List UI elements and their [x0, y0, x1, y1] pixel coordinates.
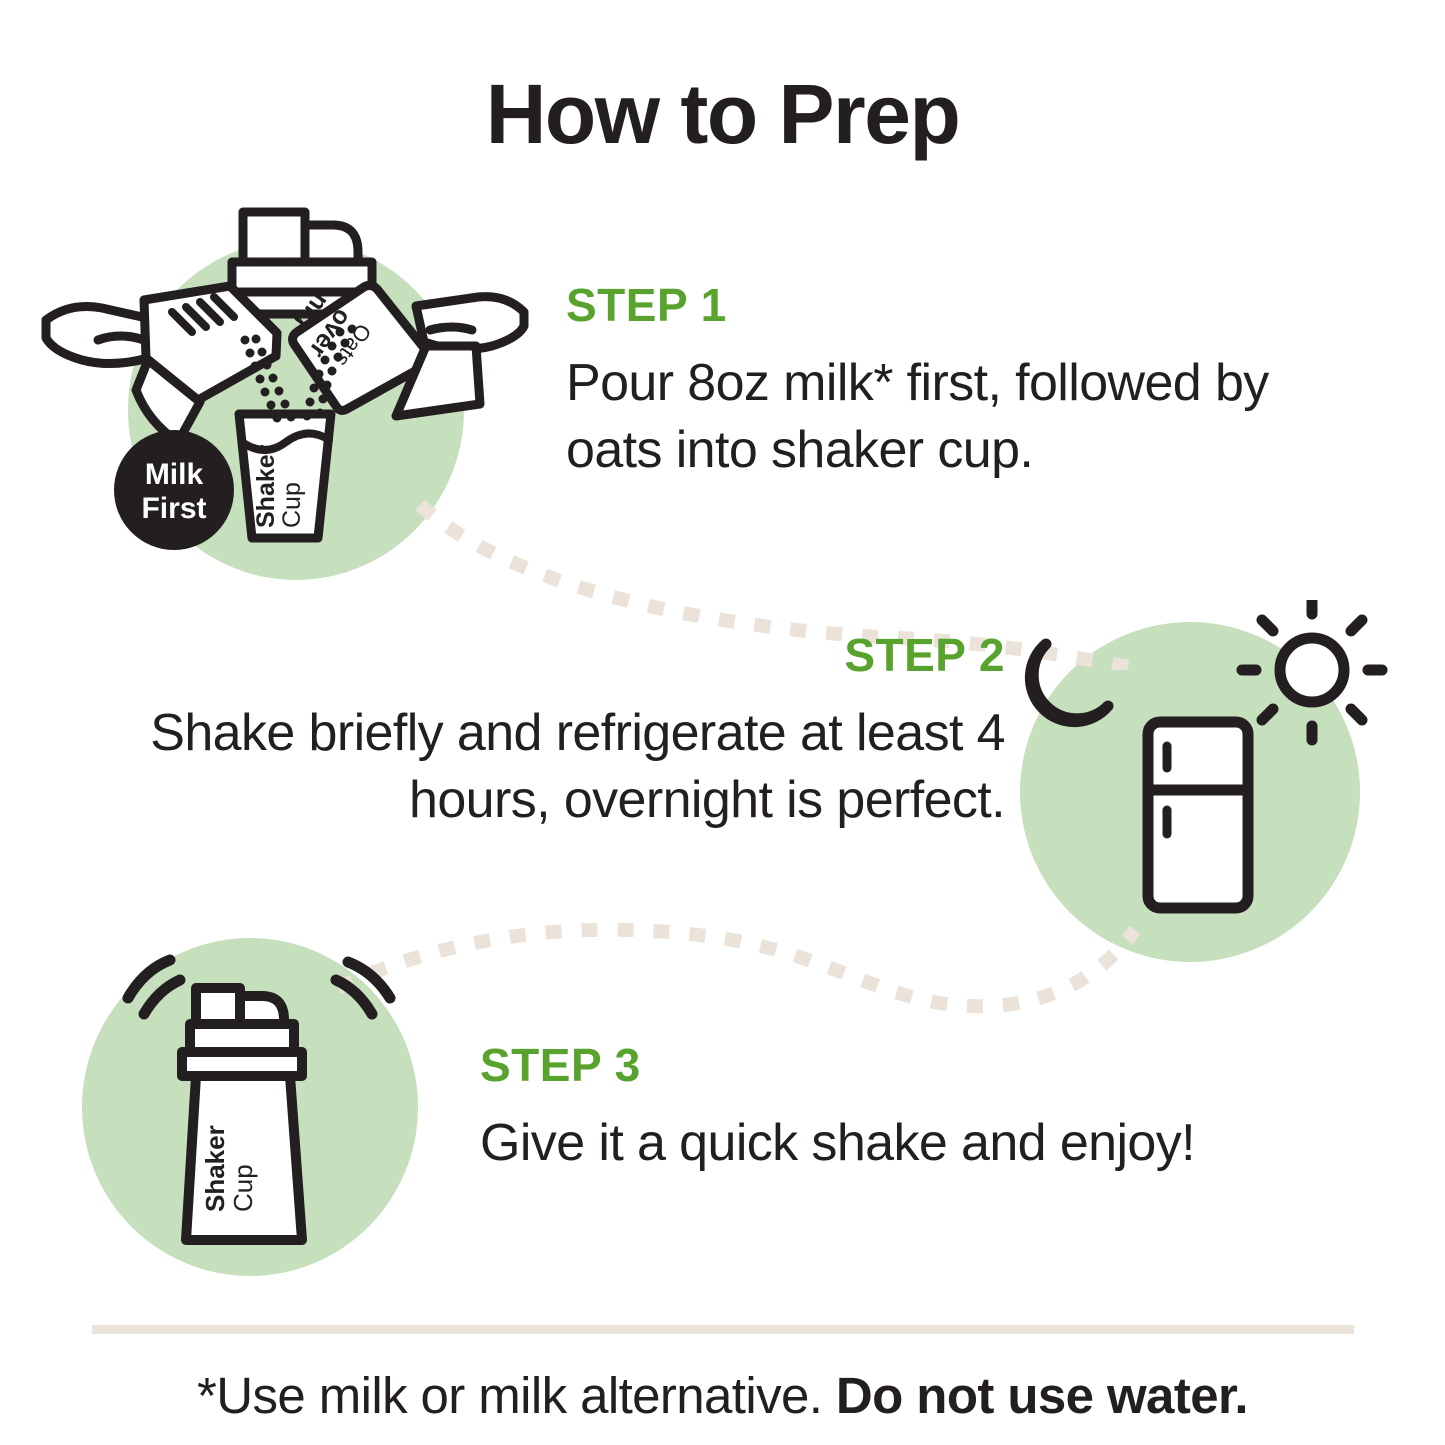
footer-note-bold: Do not use water.: [836, 1367, 1248, 1424]
step-3-label: STEP 3: [480, 1042, 1340, 1088]
step-2-label: STEP 2: [60, 632, 1005, 678]
step-3-block: STEP 3 Give it a quick shake and enjoy!: [480, 1042, 1340, 1177]
step-1-body: Pour 8oz milk* first, followed by oats i…: [566, 350, 1366, 483]
footer-note-plain: *Use milk or milk alternative.: [197, 1367, 836, 1424]
step-1-label: STEP 1: [566, 282, 1366, 328]
step-2-body: Shake briefly and refrigerate at least 4…: [60, 700, 1005, 833]
connector-dotted-path-2: [330, 910, 1140, 1040]
footer-note: *Use milk or milk alternative. Do not us…: [0, 1368, 1445, 1424]
step-1-block: STEP 1 Pour 8oz milk* first, followed by…: [566, 282, 1366, 483]
how-to-prep-infographic: How to Prep: [0, 0, 1445, 1445]
step-3-body: Give it a quick shake and enjoy!: [480, 1110, 1340, 1177]
page-title: How to Prep: [0, 72, 1445, 156]
step-2-block: STEP 2 Shake briefly and refrigerate at …: [60, 632, 1005, 833]
footer-divider: [92, 1325, 1354, 1334]
